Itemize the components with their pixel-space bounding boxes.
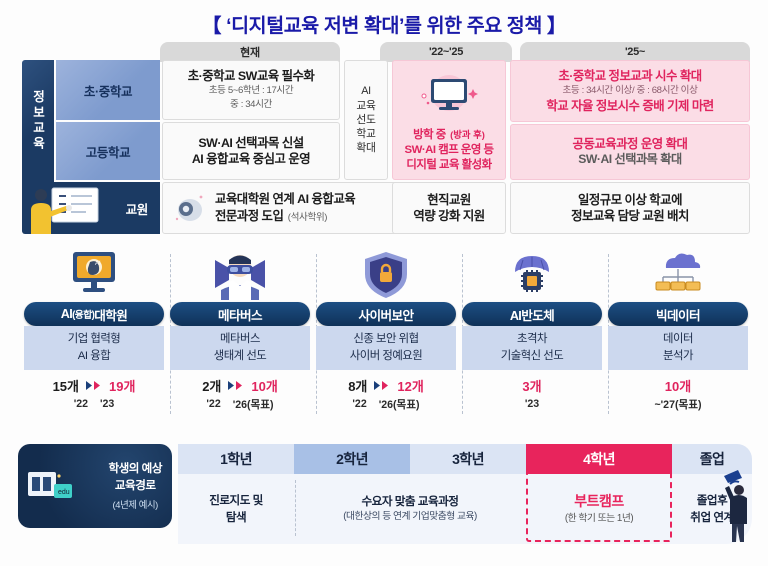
pillar-desc-1: 데이터 bbox=[663, 331, 693, 348]
pillar-title: 빅데이터 bbox=[656, 305, 700, 324]
cell-line-2: AI 융합교육 중심고 운영 bbox=[192, 151, 310, 167]
pillar-from-year: '22 bbox=[74, 398, 88, 410]
cell-current-high-school: SW·AI 선택과목 신설 AI 융합교육 중심고 운영 bbox=[162, 122, 340, 180]
pillar-from-year: '22 bbox=[206, 398, 220, 410]
cell-current-teacher: 교육대학원 연계 AI 융합교육 전문과정 도입 (석사학위) bbox=[162, 182, 412, 234]
cell-head: 초·중학교 정보교과 시수 확대 bbox=[558, 68, 701, 84]
pillar-desc-2: 사이버 정예요원 bbox=[350, 348, 423, 365]
ai-line-3: 선도 bbox=[356, 113, 375, 127]
pillar-stats: 8개 12개 '22 '26(목표) bbox=[316, 376, 456, 412]
pillar-stats: 15개 19개 '22 '23 bbox=[24, 376, 164, 412]
pillar-stat-values: 10개 bbox=[608, 376, 748, 394]
cloud-network-icon bbox=[649, 250, 707, 300]
pillar-to-year: ~'27(목표) bbox=[654, 397, 701, 412]
pillar-title: 메타버스 bbox=[218, 305, 262, 324]
policy-table-grid: 정보교육 초·중학교 고등학교 bbox=[22, 60, 750, 234]
badge-text-group: 학생의 예상 교육경로 (4년제 예시) bbox=[108, 461, 162, 511]
pillar-description: 신종 보안 위협 사이버 정예요원 bbox=[316, 326, 456, 370]
pillar-to-value: 12개 bbox=[397, 376, 423, 395]
pillar-to-year: '26(목표) bbox=[379, 397, 420, 412]
student-pathway-section: edu 학생의 예상 교육경로 (4년제 예시) 1학년 2학년 3학년 4학년… bbox=[18, 440, 752, 550]
pillar-from-value: 8개 bbox=[348, 376, 367, 395]
pillar-title: 사이버보안 bbox=[359, 305, 414, 324]
pillar-to-value: 10개 bbox=[665, 376, 691, 395]
cell-line-1: 공동교육과정 운영 확대 bbox=[573, 136, 688, 152]
pillar-cards-section: AI AI(융합)대학원 기업 협력형 AI 융합 15개 19개 bbox=[18, 248, 752, 420]
pillar-desc-2: 기술혁신 선도 bbox=[501, 348, 564, 365]
pathway-track: 1학년 2학년 3학년 4학년 졸업 진로지도 및 탐색 수요자 맞춤 교육과정… bbox=[178, 444, 752, 544]
pillar-title-button[interactable]: 빅데이터 bbox=[608, 302, 748, 326]
cell-line-2: 역량 강화 지원 bbox=[413, 208, 484, 224]
pillar-card-ai-semiconductor[interactable]: AI반도체 초격차 기술혁신 선도 3개 '23 bbox=[462, 248, 602, 420]
pillar-stat-years: '22 '26(목표) bbox=[316, 396, 456, 412]
cell-head-2: 학교 자율 정보시수 증배 기제 마련 bbox=[546, 98, 713, 114]
pillar-to-value: 3개 bbox=[522, 376, 541, 395]
cell-2022-2025-school: 방학 중 (방과 후) SW·AI 캠프 운영 등 디지털 교육 활성화 bbox=[392, 60, 506, 180]
grade-2-3-body: 수요자 맞춤 교육과정 (대한상의 등 연계 기업맞춤형 교육) bbox=[296, 476, 524, 542]
cell-line-2: 정보교육 담당 교원 배치 bbox=[571, 208, 689, 224]
infographic-page: 【 ‘디지털교육 저변 확대’를 위한 주요 정책 】 현재 '22~'25 '… bbox=[0, 0, 768, 566]
pillar-description: 메타버스 생태계 선도 bbox=[170, 326, 310, 370]
bootcamp-label: 부트캠프 bbox=[574, 491, 624, 512]
tab-2025-onward[interactable]: '25~ bbox=[520, 42, 750, 62]
pillar-title: AI bbox=[61, 307, 72, 321]
cell-text-group: 교육대학원 연계 AI 융합교육 전문과정 도입 (석사학위) bbox=[215, 191, 355, 225]
pillar-desc-1: 메타버스 bbox=[220, 331, 260, 348]
pillar-description: 기업 협력형 AI 융합 bbox=[24, 326, 164, 370]
pillar-icon-wrap bbox=[170, 248, 310, 300]
cell-ai-leading-school: AI 교육 선도 학교 확대 bbox=[344, 60, 388, 180]
pillar-title-button[interactable]: 사이버보안 bbox=[316, 302, 456, 326]
row-label-teacher-band: 교원 bbox=[22, 182, 160, 234]
ai-monitor-icon: AI bbox=[65, 250, 123, 300]
grade-4-header[interactable]: 4학년 bbox=[526, 444, 672, 474]
pillar-to-year: '23 bbox=[100, 398, 114, 410]
pillar-desc-1: 초격차 bbox=[517, 331, 547, 348]
pillar-desc-1: 기업 협력형 bbox=[68, 331, 121, 348]
grade-2-3-line-1: 수요자 맞춤 교육과정 bbox=[362, 493, 459, 510]
pillar-to-value: 19개 bbox=[109, 376, 135, 395]
grade-1-body: 진로지도 및 탐색 bbox=[178, 476, 294, 542]
pillar-title-button[interactable]: AI(융합)대학원 bbox=[24, 302, 164, 326]
pillar-to-year: '26(목표) bbox=[233, 397, 274, 412]
cell-line-1: 일정규모 이상 학교에 bbox=[578, 192, 682, 208]
arrow-right-icon bbox=[86, 381, 102, 390]
chip-cloud-icon bbox=[503, 250, 561, 300]
pillar-stat-years: '23 bbox=[462, 396, 602, 412]
cell-2022-2025-teacher: 현직교원 역량 강화 지원 bbox=[392, 182, 506, 234]
student-pathway-badge: edu 학생의 예상 교육경로 (4년제 예시) bbox=[18, 444, 172, 528]
cell-sub-2: 중 : 34시간 bbox=[230, 98, 272, 112]
svg-text:edu: edu bbox=[58, 489, 70, 496]
pillar-desc-2: 생태계 선도 bbox=[214, 348, 267, 365]
category-label-text: 정보교육 bbox=[29, 90, 48, 152]
monitor-icon bbox=[417, 73, 481, 119]
cell-line-2: SW·AI 선택과목 확대 bbox=[578, 152, 681, 168]
pillar-title-button[interactable]: AI반도체 bbox=[462, 302, 602, 326]
pillar-from-value: 15개 bbox=[53, 376, 79, 395]
row-label-elementary-middle: 초·중학교 bbox=[56, 60, 160, 120]
policy-table-section: 현재 '22~'25 '25~ 정보교육 초·중학교 고등학교 bbox=[22, 42, 750, 234]
pillar-card-bigdata[interactable]: 빅데이터 데이터 분석가 10개 ~'27(목표) bbox=[608, 248, 748, 420]
pathway-track-headers: 1학년 2학년 3학년 4학년 졸업 bbox=[178, 444, 752, 474]
pillar-to-year: '23 bbox=[525, 398, 539, 410]
grade-4-body: 부트캠프 (한 학기 또는 1년) bbox=[526, 476, 672, 542]
cell-head: 초·중학교 SW교육 필수화 bbox=[188, 68, 315, 84]
pillar-stats: 10개 ~'27(목표) bbox=[608, 376, 748, 412]
pink-line-1-note: (방과 후) bbox=[450, 129, 485, 140]
cell-2025-teacher: 일정규모 이상 학교에 정보교육 담당 교원 배치 bbox=[510, 182, 750, 234]
ai-line-1: AI bbox=[361, 84, 371, 98]
pink-line-2: SW·AI 캠프 운영 등 bbox=[405, 143, 494, 158]
pillar-card-metaverse[interactable]: 메타버스 메타버스 생태계 선도 2개 10개 '22 '26(목표) bbox=[170, 248, 310, 420]
pillar-description: 초격차 기술혁신 선도 bbox=[462, 326, 602, 370]
pillar-stat-values: 3개 bbox=[462, 376, 602, 394]
pillar-stat-values: 15개 19개 bbox=[24, 376, 164, 394]
pillar-title-small: (융합) bbox=[72, 307, 94, 321]
page-title: 【 ‘디지털교육 저변 확대’를 위한 주요 정책 】 bbox=[0, 6, 768, 40]
pillar-from-year: '22 bbox=[352, 398, 366, 410]
cell-line-2-group: 전문과정 도입 (석사학위) bbox=[215, 207, 355, 225]
pillar-stat-values: 2개 10개 bbox=[170, 376, 310, 394]
graduate-icon bbox=[720, 468, 754, 544]
grade-2-header[interactable]: 2학년 bbox=[294, 444, 410, 474]
pink-line-1-group: 방학 중 (방과 후) bbox=[413, 125, 485, 143]
pillar-title: AI반도체 bbox=[510, 305, 554, 324]
pillar-stat-years: '22 '23 bbox=[24, 396, 164, 412]
pink-line-3: 디지털 교육 활성화 bbox=[406, 158, 491, 173]
cell-2025-high-school: 공동교육과정 운영 확대 SW·AI 선택과목 확대 bbox=[510, 124, 750, 180]
pillar-desc-2: 분석가 bbox=[663, 348, 693, 365]
category-label-info-education: 정보교육 bbox=[22, 60, 54, 182]
pillar-stat-years: ~'27(목표) bbox=[608, 396, 748, 412]
badge-line-1: 학생의 예상 bbox=[108, 461, 162, 478]
vr-person-icon bbox=[211, 250, 269, 300]
book-icon: edu bbox=[26, 466, 78, 508]
tab-2022-2025[interactable]: '22~'25 bbox=[380, 42, 512, 62]
pink-line-1: 방학 중 bbox=[413, 129, 446, 141]
pillar-icon-wrap: AI bbox=[24, 248, 164, 300]
pillar-desc-1: 신종 보안 위협 bbox=[353, 331, 418, 348]
cell-sub-1: 초등 5~6학년 : 17시간 bbox=[209, 84, 294, 98]
pillar-title-button[interactable]: 메타버스 bbox=[170, 302, 310, 326]
tab-current[interactable]: 현재 bbox=[160, 42, 340, 62]
arrow-right-icon bbox=[228, 381, 244, 390]
badge-note: (4년제 예시) bbox=[108, 497, 162, 511]
grade-1-line-2: 탐색 bbox=[226, 509, 246, 526]
teacher-icon bbox=[26, 184, 102, 234]
pillar-description: 데이터 분석가 bbox=[608, 326, 748, 370]
row-label-teacher: 교원 bbox=[126, 199, 148, 218]
policy-table-tabs: 현재 '22~'25 '25~ bbox=[22, 42, 750, 62]
grade-3-header[interactable]: 3학년 bbox=[410, 444, 526, 474]
cell-line-2: 전문과정 도입 bbox=[215, 209, 283, 223]
pillar-to-value: 10개 bbox=[251, 376, 277, 395]
pillar-desc-2: AI 융합 bbox=[78, 348, 110, 365]
pillar-icon-wrap bbox=[608, 248, 748, 300]
cell-sub: 초등 : 34시간 이상/ 중 : 68시간 이상 bbox=[562, 84, 697, 98]
cell-line-2-note: (석사학위) bbox=[288, 212, 327, 223]
ai-line-2: 교육 bbox=[356, 99, 375, 113]
grad-cap-icon bbox=[173, 192, 207, 224]
ai-line-5: 확대 bbox=[356, 141, 375, 155]
pillar-title-rest: 대학원 bbox=[94, 305, 127, 324]
pillar-icon-wrap bbox=[316, 248, 456, 300]
pillar-card-cybersecurity[interactable]: 사이버보안 신종 보안 위협 사이버 정예요원 8개 12개 '22 '26(목… bbox=[316, 248, 456, 420]
cell-line-1: 교육대학원 연계 AI 융합교육 bbox=[215, 191, 355, 207]
pillar-stat-values: 8개 12개 bbox=[316, 376, 456, 394]
cell-2025-elementary-middle: 초·중학교 정보교과 시수 확대 초등 : 34시간 이상/ 중 : 68시간 … bbox=[510, 60, 750, 122]
cell-line-1: 현직교원 bbox=[427, 192, 471, 208]
pillar-stat-years: '22 '26(목표) bbox=[170, 396, 310, 412]
grade-1-line-1: 진로지도 및 bbox=[209, 492, 263, 509]
pillar-card-ai-graduate[interactable]: AI AI(융합)대학원 기업 협력형 AI 융합 15개 19개 bbox=[24, 248, 164, 420]
pillar-stats: 2개 10개 '22 '26(목표) bbox=[170, 376, 310, 412]
cell-current-elementary-middle: 초·중학교 SW교육 필수화 초등 5~6학년 : 17시간 중 : 34시간 bbox=[162, 60, 340, 120]
bootcamp-note: (한 학기 또는 1년) bbox=[565, 512, 633, 527]
ai-line-4: 학교 bbox=[356, 127, 375, 141]
page-title-text: 【 ‘디지털교육 저변 확대’를 위한 주요 정책 】 bbox=[202, 9, 566, 38]
cell-line-1: SW·AI 선택과목 신설 bbox=[198, 135, 303, 151]
grade-2-3-line-2: (대한상의 등 연계 기업맞춤형 교육) bbox=[343, 510, 477, 525]
arrow-right-icon bbox=[374, 381, 390, 390]
badge-line-2: 교육경로 bbox=[108, 478, 162, 495]
svg-text:AI: AI bbox=[95, 261, 101, 267]
pillar-stats: 3개 '23 bbox=[462, 376, 602, 412]
row-label-high-school: 고등학교 bbox=[56, 122, 160, 180]
grade-1-header[interactable]: 1학년 bbox=[178, 444, 294, 474]
pillar-icon-wrap bbox=[462, 248, 602, 300]
pillar-from-value: 2개 bbox=[202, 376, 221, 395]
shield-lock-icon bbox=[357, 250, 415, 300]
